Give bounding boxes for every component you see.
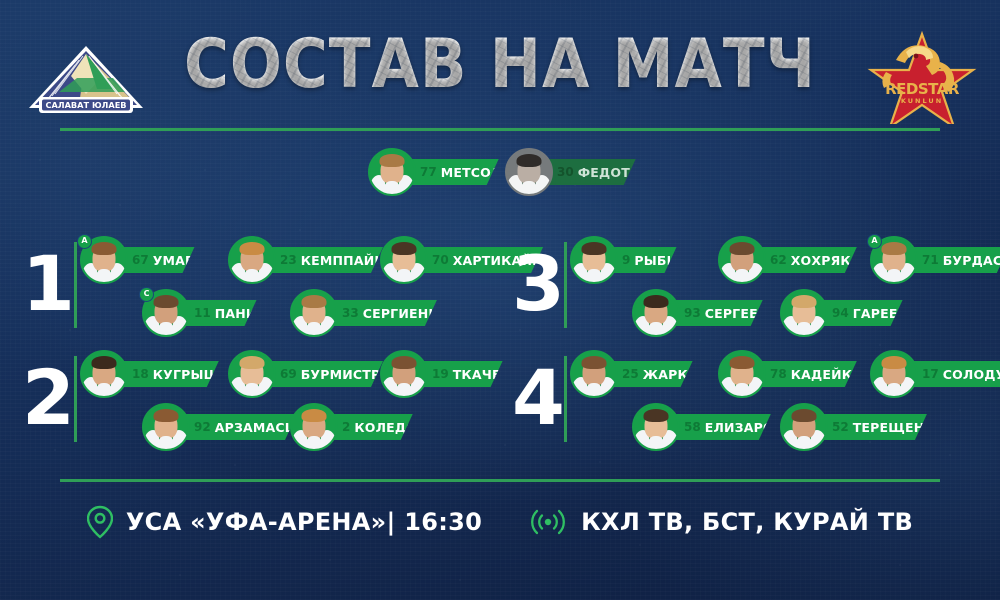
player-number: 77: [420, 165, 437, 179]
divider-bottom: [60, 479, 940, 482]
divider-top: [60, 128, 940, 131]
avatar-hair: [240, 242, 265, 255]
player-avatar: [505, 148, 553, 196]
avatar-collar: [797, 436, 812, 449]
line-block-4: 425ЖАРКОВ78КАДЕЙКИН17СОЛОДУХИН58ЕЛИЗАРОВ…: [512, 350, 982, 460]
player-name: ФЕДОТОВ: [578, 165, 651, 180]
avatar-collar: [587, 269, 602, 282]
player-avatar: [632, 403, 680, 451]
player-name: КУГРЫШЕВ: [153, 367, 238, 382]
player-number: 70: [432, 253, 449, 267]
avatar-hair: [792, 409, 817, 422]
line-number: 3: [512, 236, 558, 332]
player-name: СЕРГИЕНКО: [363, 306, 450, 321]
player-name: РЫБИН: [634, 253, 688, 268]
avatar-collar: [97, 383, 112, 396]
avatar-hair: [154, 295, 179, 308]
avatar-collar: [735, 269, 750, 282]
venue-info: УСА «УФА-АРЕНА»| 16:30: [87, 505, 482, 539]
avatar-hair: [582, 242, 607, 255]
player-number: 23: [280, 253, 297, 267]
player-number: 69: [280, 367, 297, 381]
player-avatar: [780, 403, 828, 451]
player-name: ГАРЕЕВ: [853, 306, 908, 321]
player-number: 93: [684, 306, 701, 320]
avatar-collar: [887, 269, 902, 282]
line-number: 1: [22, 236, 68, 332]
line-divider: [74, 242, 77, 328]
player-number: 25: [622, 367, 639, 381]
captain-badge-a: A: [867, 234, 882, 249]
avatar-hair: [730, 242, 755, 255]
player-avatar: [718, 350, 766, 398]
player-avatar: [780, 289, 828, 337]
player-avatar: [870, 350, 918, 398]
avatar-hair: [730, 356, 755, 369]
avatar-hair: [392, 356, 417, 369]
avatar-hair: [392, 242, 417, 255]
avatar-collar: [397, 269, 412, 282]
line-number: 4: [512, 350, 558, 446]
player-number: 9: [622, 253, 630, 267]
broadcast-signal-icon: [528, 507, 568, 537]
player-number: 11: [194, 306, 211, 320]
line-number: 2: [22, 350, 68, 446]
line-block-2: 218КУГРЫШЕВ69БУРМИСТРОВ19ТКАЧЕВ92АРЗАМАС…: [22, 350, 492, 460]
avatar-collar: [97, 269, 112, 282]
player-name: СОЛОДУХИН: [943, 367, 1000, 382]
avatar-hair: [240, 356, 265, 369]
player-name: КАДЕЙКИН: [791, 367, 874, 382]
avatar-collar: [385, 181, 400, 194]
player-name: ТЕРЕЩЕНКО: [853, 420, 946, 435]
redstar-logo-subtext: KUNLUN: [901, 97, 943, 105]
location-pin-icon: [87, 505, 113, 539]
player-number: 94: [832, 306, 849, 320]
player-avatar: [718, 236, 766, 284]
player-number: 78: [770, 367, 787, 381]
red-star-kunlun-logo-icon: REDSTAR KUNLUN: [866, 28, 978, 124]
player-number: 18: [132, 367, 149, 381]
avatar-hair: [644, 295, 669, 308]
avatar-collar: [159, 322, 174, 335]
player-avatar: [228, 350, 276, 398]
avatar-hair: [644, 409, 669, 422]
player-avatar: [632, 289, 680, 337]
player-name: ЕЛИЗАРОВ: [705, 420, 784, 435]
player-number: 92: [194, 420, 211, 434]
avatar-hair: [302, 295, 327, 308]
avatar-collar: [522, 181, 537, 194]
avatar-hair: [380, 154, 405, 167]
header: САЛАВАТ ЮЛАЕВ СОСТАВ НА МАТЧ REDSTAR KUN…: [0, 0, 1000, 128]
page-title-text: СОСТАВ НА МАТЧ: [184, 25, 816, 104]
avatar-collar: [307, 436, 322, 449]
captain-badge-c: C: [139, 287, 154, 302]
player-name: ПАНИН: [215, 306, 268, 321]
avatar-hair: [882, 356, 907, 369]
player-name: ЖАРКОВ: [643, 367, 709, 382]
player-name: БУРДАСОВ: [943, 253, 1000, 268]
captain-badge-a: A: [77, 234, 92, 249]
avatar-hair: [517, 154, 542, 167]
avatar-collar: [587, 383, 602, 396]
venue-text: УСА «УФА-АРЕНА»| 16:30: [126, 508, 482, 536]
player-avatar: [570, 350, 618, 398]
player-number: 52: [832, 420, 849, 434]
avatar-collar: [397, 383, 412, 396]
player-avatar: [228, 236, 276, 284]
avatar-hair: [92, 356, 117, 369]
line-block-3: 39РЫБИН62ХОХРЯКОВ71БУРДАСОВA93СЕРГЕЕВ94Г…: [512, 236, 982, 346]
player-avatar: [380, 236, 428, 284]
player-name: СЕРГЕЕВ: [705, 306, 768, 321]
player-avatar: [290, 289, 338, 337]
player-avatar: [380, 350, 428, 398]
redstar-logo-text: REDSTAR: [885, 80, 960, 98]
line-divider: [74, 356, 77, 442]
avatar-hair: [154, 409, 179, 422]
footer: УСА «УФА-АРЕНА»| 16:30 КХЛ ТВ, БСТ, КУРА…: [0, 492, 1000, 552]
player-name: МЕТСОЛА: [441, 165, 512, 180]
avatar-hair: [882, 242, 907, 255]
player-number: 33: [342, 306, 359, 320]
avatar-collar: [307, 322, 322, 335]
avatar-collar: [887, 383, 902, 396]
player-avatar: [80, 350, 128, 398]
avatar-collar: [797, 322, 812, 335]
avatar-collar: [649, 436, 664, 449]
line-divider: [564, 356, 567, 442]
avatar-collar: [649, 322, 664, 335]
player-number: 19: [432, 367, 449, 381]
avatar-hair: [92, 242, 117, 255]
player-name: УМАРК: [153, 253, 205, 268]
avatar-collar: [735, 383, 750, 396]
player-number: 62: [770, 253, 787, 267]
roster: 77МЕТСОЛА30ФЕДОТОВ 167УМАРКA23КЕМППАЙНЕН…: [0, 140, 1000, 470]
player-avatar: [142, 403, 190, 451]
player-number: 58: [684, 420, 701, 434]
avatar-collar: [245, 383, 260, 396]
page-title: СОСТАВ НА МАТЧ: [0, 25, 1000, 104]
player-avatar: [570, 236, 618, 284]
avatar-hair: [582, 356, 607, 369]
player-name: КОЛЕДОВ: [354, 420, 426, 435]
player-number: 17: [922, 367, 939, 381]
avatar-hair: [302, 409, 327, 422]
player-number: 30: [557, 165, 574, 179]
line-divider: [564, 242, 567, 328]
player-avatar: [368, 148, 416, 196]
goalies-row: 77МЕТСОЛА30ФЕДОТОВ: [0, 148, 1000, 198]
broadcast-text: КХЛ ТВ, БСТ, КУРАЙ ТВ: [581, 508, 913, 536]
broadcast-info: КХЛ ТВ, БСТ, КУРАЙ ТВ: [528, 507, 913, 537]
avatar-collar: [159, 436, 174, 449]
player-name: ТКАЧЕВ: [453, 367, 511, 382]
player-name: ХОХРЯКОВ: [791, 253, 872, 268]
line-block-1: 167УМАРКA23КЕМППАЙНЕН70ХАРТИКАЙНЕН11ПАНИ…: [22, 236, 492, 346]
player-number: 67: [132, 253, 149, 267]
player-number: 71: [922, 253, 939, 267]
avatar-hair: [792, 295, 817, 308]
player-number: 2: [342, 420, 350, 434]
player-avatar: [290, 403, 338, 451]
avatar-collar: [245, 269, 260, 282]
